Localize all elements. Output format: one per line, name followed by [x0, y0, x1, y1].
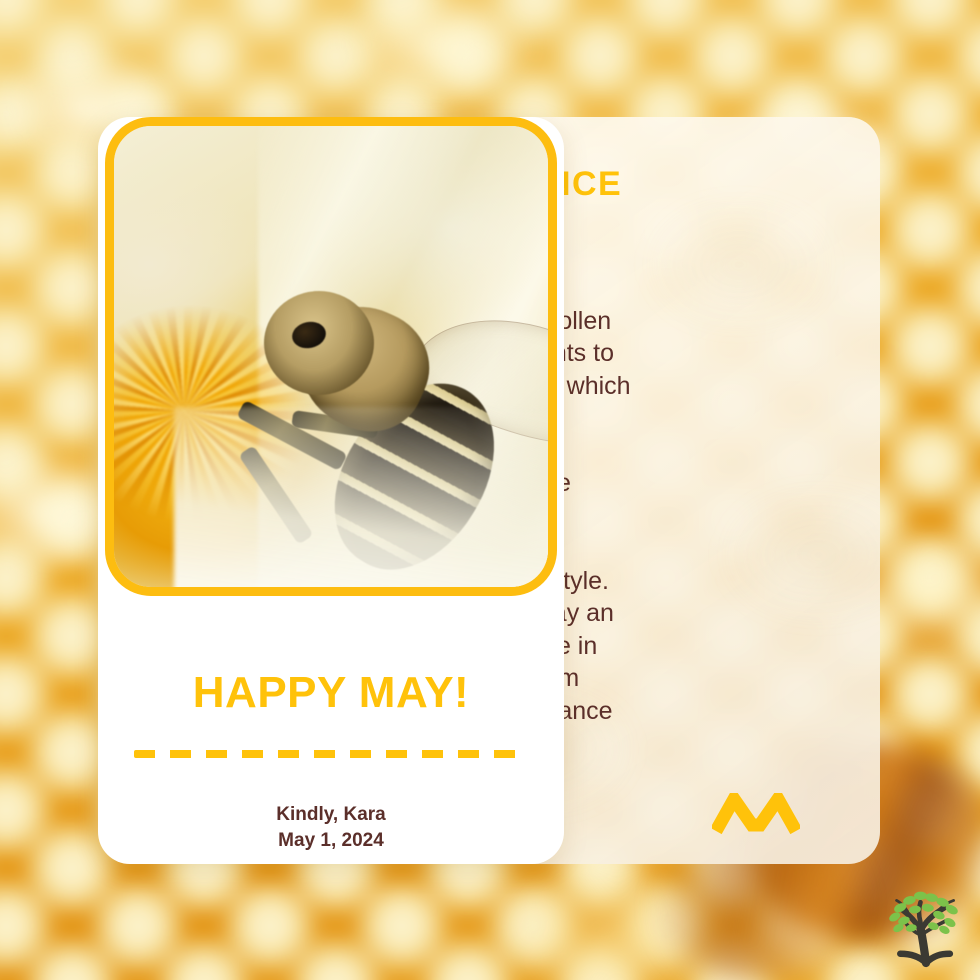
photo-card: HAPPY MAY! Kindly, Kara May 1, 2024	[98, 117, 564, 864]
flower-petals-bottom	[174, 407, 557, 596]
signature-name: Kindly, Kara	[98, 802, 564, 828]
dashed-divider	[134, 750, 528, 758]
tree-logo-icon	[880, 882, 972, 974]
card-body: HAPPY MAY! Kindly, Kara May 1, 2024	[98, 596, 564, 864]
greeting-title: HAPPY MAY!	[98, 668, 564, 718]
signature-date: May 1, 2024	[98, 828, 564, 854]
poster-canvas: IMPORTANCE OF BEES: Bees carry pollen be…	[0, 0, 980, 980]
zigzag-mm-icon	[712, 793, 800, 840]
bee-photo-frame	[105, 117, 557, 596]
bee-photo	[114, 126, 548, 587]
signature-block: Kindly, Kara May 1, 2024	[98, 802, 564, 853]
